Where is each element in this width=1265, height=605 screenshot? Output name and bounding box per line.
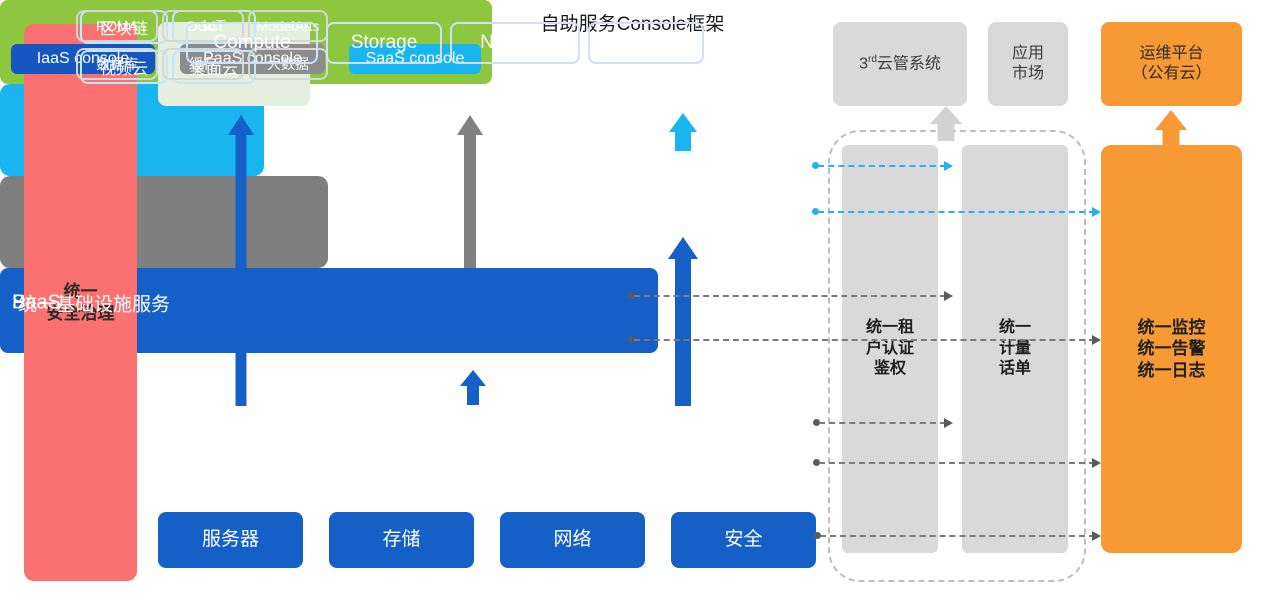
- billing-line-1: 统一: [999, 318, 1031, 339]
- arrow-ops-body-to-header: [1155, 110, 1187, 148]
- hardware-box-storage: 存储: [329, 512, 474, 568]
- dashed-line-hardware-to-ops: [820, 535, 1095, 537]
- auth-line-2: 户认证: [866, 339, 914, 360]
- ops-platform-header-box: 运维平台 （公有云）: [1101, 22, 1242, 106]
- app-market-box: 应用 市场: [988, 22, 1068, 106]
- hardware-label-server: 服务器: [202, 528, 259, 552]
- dashed-arrowhead-hardware-to-ops: [1092, 531, 1101, 541]
- ops-body-line-2: 统一告警: [1138, 338, 1206, 359]
- infra-chip-network[interactable]: Network: [450, 22, 580, 64]
- dashed-arrowhead-paas-to-auth: [944, 291, 953, 301]
- infra-chip-cce[interactable]: CCE: [588, 22, 704, 64]
- ops-platform-line-1: 运维平台: [1131, 44, 1211, 64]
- hardware-box-network: 网络: [500, 512, 645, 568]
- infrastructure-label: 统一基础设施服务: [18, 289, 170, 316]
- billing-line-2: 计量: [999, 339, 1031, 360]
- arrow-paas-to-console: [457, 115, 483, 267]
- hardware-label-network: 网络: [553, 528, 591, 552]
- unified-metering-billing-column: 统一 计量 话单: [962, 145, 1068, 553]
- unified-tenant-auth-column: 统一租 户认证 鉴权: [842, 145, 938, 553]
- dashed-arrowhead-saas-to-ops: [1092, 207, 1101, 217]
- third-cloud-prefix: 3: [859, 55, 868, 72]
- paas-chip-database[interactable]: 数据库: [76, 48, 158, 80]
- auth-line-3: 鉴权: [866, 359, 914, 380]
- dashed-line-paas-to-ops: [634, 339, 1095, 341]
- dashed-arrowhead-infra-to-auth: [944, 418, 953, 428]
- architecture-diagram: 统一 安全治理 API网关 自助服务Console框架 IaaS console…: [0, 0, 1265, 605]
- paas-chip-roma[interactable]: ROMA: [76, 10, 158, 42]
- infra-chip-storage[interactable]: Storage: [326, 22, 442, 64]
- dashed-arrowhead-infra-to-ops: [1092, 458, 1101, 468]
- infra-chip-compute[interactable]: Compute: [186, 22, 318, 64]
- arrow-infra-to-paas: [460, 370, 486, 406]
- arrow-infra-to-saas: [668, 237, 698, 405]
- hardware-label-storage: 存储: [382, 528, 420, 552]
- dashed-line-paas-to-auth: [634, 295, 946, 297]
- ops-platform-line-2: （公有云）: [1131, 64, 1211, 84]
- ops-body-line-1: 统一监控: [1138, 317, 1206, 338]
- ops-body-line-3: 统一日志: [1138, 360, 1206, 381]
- hardware-label-security: 安全: [724, 528, 762, 552]
- dashed-line-infra-to-ops: [819, 462, 1095, 464]
- third-cloud-rest: 云管系统: [877, 55, 941, 72]
- dashed-line-saas-to-ops: [818, 211, 1095, 213]
- app-market-line-2: 市场: [1012, 64, 1044, 84]
- auth-line-1: 统一租: [866, 318, 914, 339]
- arrow-shared-to-third-cloud: [930, 106, 962, 140]
- third-party-cloud-management-box: 3rd云管系统: [833, 22, 967, 106]
- hardware-box-server: 服务器: [158, 512, 303, 568]
- arrow-infra-to-api-gateway: [228, 115, 254, 405]
- third-cloud-label: 3rd云管系统: [859, 54, 941, 74]
- dashed-line-saas-to-auth: [818, 165, 946, 167]
- dashed-arrowhead-saas-to-auth: [944, 161, 953, 171]
- dashed-line-infra-to-auth: [819, 422, 946, 424]
- dashed-arrowhead-paas-to-ops: [1092, 335, 1101, 345]
- hardware-box-security: 安全: [671, 512, 816, 568]
- app-market-line-1: 应用: [1012, 44, 1044, 64]
- third-cloud-sup: rd: [868, 54, 877, 65]
- ops-platform-body-box: 统一监控 统一告警 统一日志: [1101, 145, 1242, 553]
- billing-line-3: 话单: [999, 359, 1031, 380]
- arrow-saas-to-console: [669, 113, 697, 149]
